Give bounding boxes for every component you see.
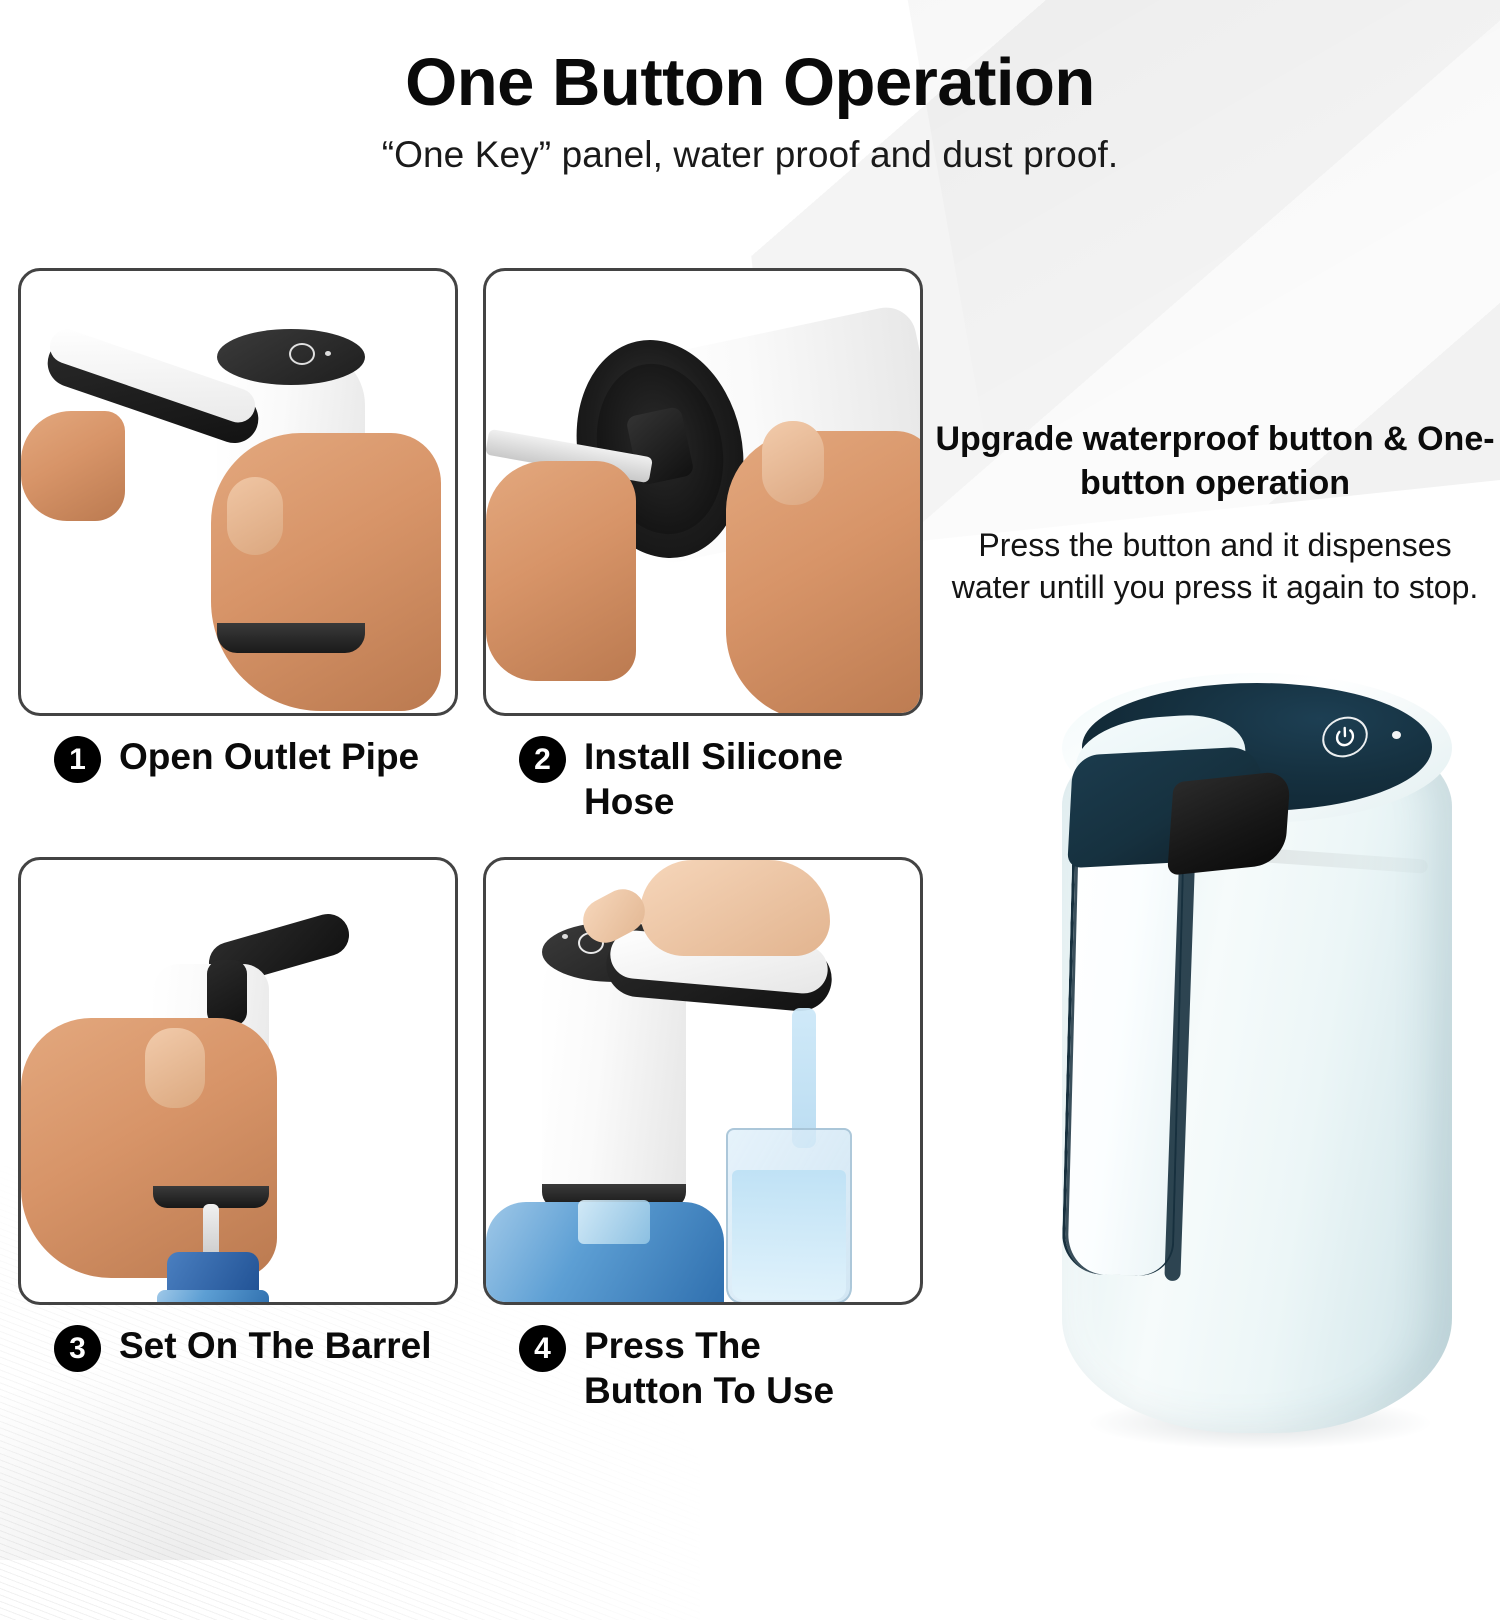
step-caption-text: Set On The Barrel [119, 1323, 432, 1368]
step-photo-2 [483, 268, 923, 716]
step-number-badge: 1 [54, 736, 101, 783]
page-title: One Button Operation [0, 48, 1500, 118]
header: One Button Operation “One Key” panel, wa… [0, 0, 1500, 176]
step-card-3: 3 Set On The Barrel [18, 857, 458, 1413]
hand [211, 433, 441, 711]
device-base [217, 623, 365, 653]
step-photo-4 [483, 857, 923, 1305]
step-number-badge: 4 [519, 1325, 566, 1372]
hero-product-image [1020, 655, 1500, 1455]
steps-grid: 1 Open Outlet Pipe 2 Install Silicone Ho… [18, 268, 918, 1414]
step-caption-2: 2 Install Silicone Hose [483, 734, 923, 824]
feature-body: Press the button and it dispenses water … [935, 525, 1495, 608]
thumb [21, 411, 125, 521]
step-card-4: 4 Press The Button To Use [483, 857, 923, 1413]
step-card-1: 1 Open Outlet Pipe [18, 268, 458, 824]
bottle-neck [157, 1290, 269, 1305]
water-stream [792, 1008, 816, 1148]
power-icon [289, 343, 315, 365]
hand [640, 860, 830, 956]
led-indicator [325, 351, 331, 356]
page-subtitle: “One Key” panel, water proof and dust pr… [0, 134, 1500, 176]
step-caption-text: Open Outlet Pipe [119, 734, 419, 779]
glass-water [732, 1170, 846, 1300]
step-number-badge: 2 [519, 736, 566, 783]
step-caption-4: 4 Press The Button To Use [483, 1323, 923, 1413]
barrel-neck [578, 1200, 650, 1244]
steps-row-1: 1 Open Outlet Pipe 2 Install Silicone Ho… [18, 268, 918, 824]
hand-left [486, 461, 636, 681]
finger [227, 477, 283, 555]
spout-hinge [207, 960, 247, 1026]
step-photo-1 [18, 268, 458, 716]
thumb [762, 421, 824, 505]
feature-copy: Upgrade waterproof button & One-button o… [935, 418, 1495, 608]
step-card-2: 2 Install Silicone Hose [483, 268, 923, 824]
step-caption-text: Press The Button To Use [584, 1323, 884, 1413]
step-caption-text: Install Silicone Hose [584, 734, 884, 824]
step-photo-3 [18, 857, 458, 1305]
hand-right [726, 431, 923, 716]
feature-heading: Upgrade waterproof button & One-button o… [935, 418, 1495, 505]
step-number-badge: 3 [54, 1325, 101, 1372]
thumb [145, 1028, 205, 1108]
steps-row-2: 3 Set On The Barrel [18, 857, 918, 1413]
led-indicator [1392, 731, 1401, 739]
step-caption-3: 3 Set On The Barrel [18, 1323, 458, 1372]
step-caption-1: 1 Open Outlet Pipe [18, 734, 458, 783]
